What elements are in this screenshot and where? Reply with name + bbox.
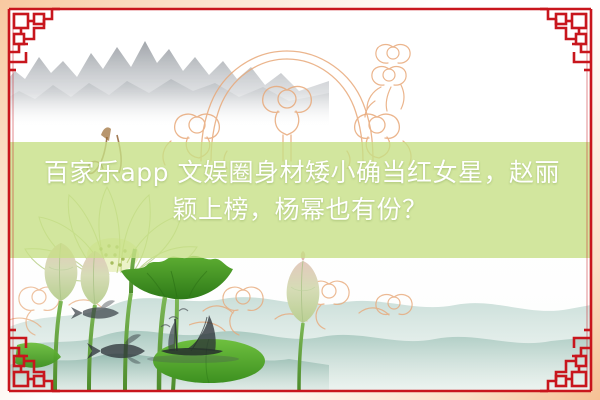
title-line-2: 颖上榜，杨幂也有份？ bbox=[172, 193, 427, 226]
poster: 百家乐app 文娱圈身材矮小确当红女星，赵丽 颖上榜，杨幂也有份？ bbox=[0, 0, 600, 400]
ink-fish bbox=[71, 300, 119, 319]
ink-sailboat bbox=[147, 315, 239, 363]
title-line-1: 百家乐app 文娱圈身材矮小确当红女星，赵丽 bbox=[40, 156, 560, 189]
poster-title: 百家乐app 文娱圈身材矮小确当红女星，赵丽 颖上榜，杨幂也有份？ bbox=[0, 133, 600, 249]
ink-wash-scene bbox=[27, 289, 327, 379]
